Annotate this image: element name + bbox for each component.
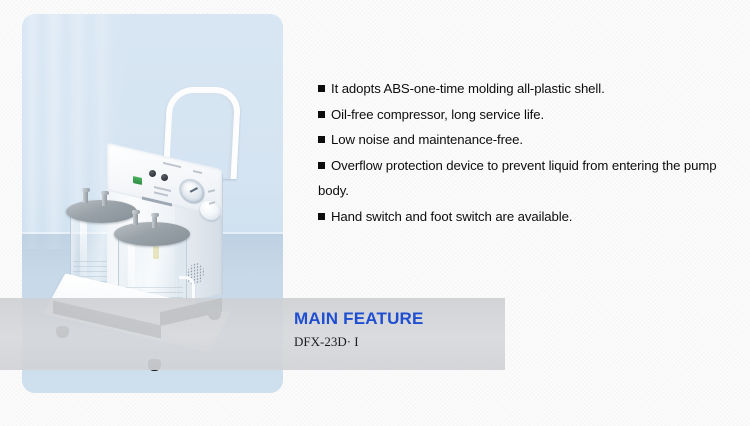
square-bullet-icon [318, 136, 325, 143]
feature-list-item-label: Overflow protection device to prevent li… [318, 158, 716, 199]
product-model-number: DFX-23D· I [294, 334, 494, 350]
black-button-one-icon [149, 170, 156, 177]
jar-nozzle-front-1 [133, 213, 138, 225]
black-button-two-icon [161, 174, 168, 181]
jar-tube-tag [153, 245, 159, 259]
feature-list-item: Low noise and maintenance-free. [318, 127, 730, 153]
main-feature-title: MAIN FEATURE [294, 308, 494, 329]
product-feature-page: MAIN FEATURE DFX-23D· I It adopts ABS-on… [0, 0, 750, 426]
main-feature-text-block: MAIN FEATURE DFX-23D· I [294, 308, 494, 350]
feature-list: It adopts ABS-one-time molding all-plast… [318, 76, 730, 229]
feature-list-item: Oil-free compressor, long service life. [318, 102, 730, 128]
jar-nozzle-rear-2 [102, 194, 107, 206]
feature-list-item-label: It adopts ABS-one-time molding all-plast… [331, 81, 605, 96]
feature-list-item-label: Low noise and maintenance-free. [331, 132, 523, 147]
square-bullet-icon [318, 85, 325, 92]
feature-list-item: Overflow protection device to prevent li… [318, 153, 730, 204]
feature-list-item-label: Oil-free compressor, long service life. [331, 107, 544, 122]
feature-list-item: It adopts ABS-one-time molding all-plast… [318, 76, 730, 102]
jar-nozzle-rear-1 [83, 191, 88, 203]
feature-list-item: Hand switch and foot switch are availabl… [318, 204, 730, 230]
square-bullet-icon [318, 111, 325, 118]
square-bullet-icon [318, 213, 325, 220]
square-bullet-icon [318, 162, 325, 169]
feature-list-item-label: Hand switch and foot switch are availabl… [331, 209, 572, 224]
jar-nozzle-front-2 [152, 216, 157, 228]
